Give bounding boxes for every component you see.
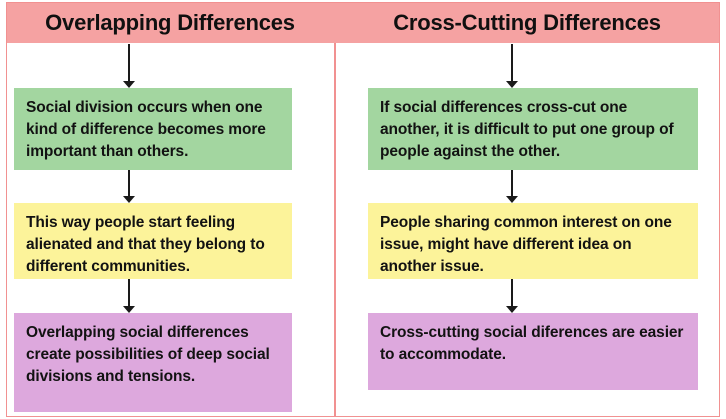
flowchart-diagram: Overlapping Differences Cross-Cutting Di… <box>0 0 726 419</box>
diagram-frame <box>6 2 720 417</box>
